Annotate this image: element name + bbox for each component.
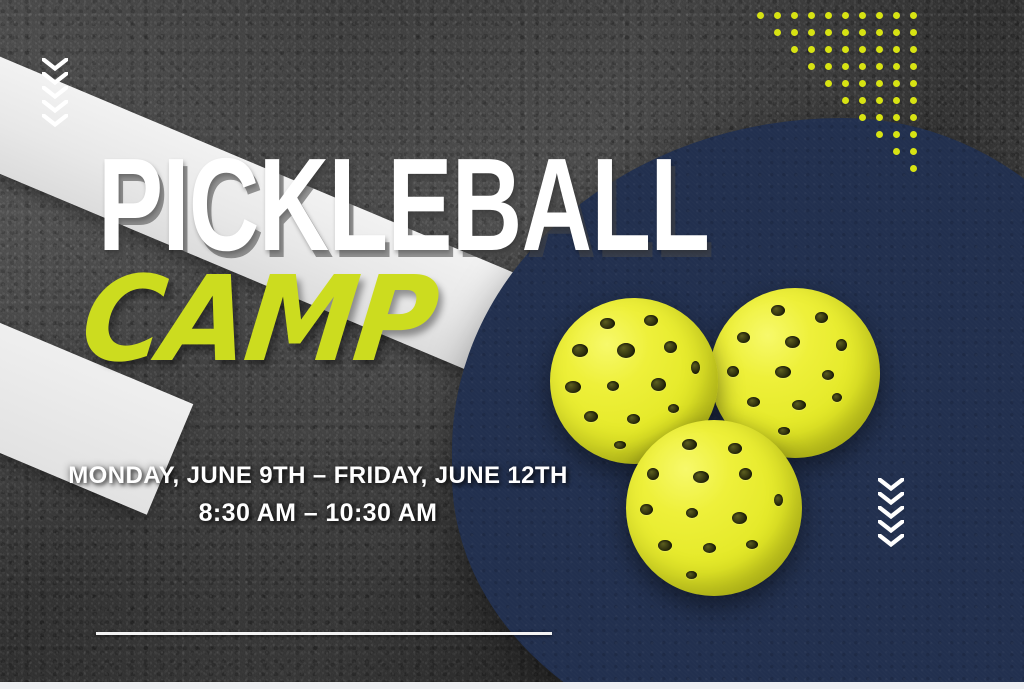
dot	[808, 12, 815, 19]
chevron-down-icon	[42, 100, 68, 113]
chevron-down-icon	[42, 86, 68, 99]
dot	[774, 12, 781, 19]
pickleball-hole	[640, 504, 653, 515]
dot	[893, 131, 900, 138]
pickleball-hole	[747, 397, 760, 407]
pickleball-cluster	[540, 280, 920, 620]
dot	[910, 80, 917, 87]
dot	[910, 46, 917, 53]
chevron-down-icon	[878, 478, 904, 491]
dot	[910, 131, 917, 138]
dot	[876, 29, 883, 36]
pickleball-hole	[607, 381, 619, 391]
dot	[825, 63, 832, 70]
dot	[842, 97, 849, 104]
chevron-down-icon	[878, 520, 904, 533]
pickleball-hole	[774, 494, 783, 506]
dot	[893, 12, 900, 19]
dot	[876, 114, 883, 121]
pickleball-hole	[746, 540, 758, 549]
dot-row	[791, 46, 927, 54]
dot	[876, 97, 883, 104]
dot	[825, 29, 832, 36]
pickleball-hole	[739, 468, 752, 480]
pickleball-hole	[728, 443, 742, 454]
chevron-down-icon	[42, 72, 68, 85]
pickleball-icon	[626, 420, 802, 596]
dot	[791, 29, 798, 36]
dot-row	[859, 114, 927, 122]
pickleball-hole	[644, 315, 658, 326]
camp-date-range: MONDAY, JUNE 9TH – FRIDAY, JUNE 12TH	[0, 458, 636, 494]
chevron-down-group-right	[878, 478, 904, 548]
dot-row	[757, 12, 927, 20]
dot	[842, 63, 849, 70]
pickleball-hole	[572, 344, 588, 357]
dot	[859, 46, 866, 53]
camp-schedule: MONDAY, JUNE 9TH – FRIDAY, JUNE 12TH 8:3…	[0, 458, 636, 532]
pickleball-hole	[668, 404, 679, 413]
dot	[859, 12, 866, 19]
chevron-down-icon	[878, 492, 904, 505]
chevron-down-icon	[42, 58, 68, 71]
dot-row	[825, 80, 927, 88]
bottom-edge-strip	[0, 682, 1024, 689]
dot	[893, 97, 900, 104]
title-camp: CAMP	[76, 260, 441, 378]
dot	[893, 46, 900, 53]
dot	[842, 80, 849, 87]
dot	[910, 97, 917, 104]
horizontal-rule	[96, 632, 552, 635]
dot	[791, 12, 798, 19]
dot	[842, 12, 849, 19]
pickleball-hole	[792, 400, 806, 410]
pickleball-camp-poster: PICKLEBALL CAMP MONDAY, JUNE 9TH – FRIDA…	[0, 0, 1024, 689]
pickleball-hole	[658, 540, 672, 551]
camp-time-range: 8:30 AM – 10:30 AM	[0, 494, 636, 532]
dot	[876, 12, 883, 19]
dot	[859, 97, 866, 104]
dot-row	[876, 131, 927, 139]
dot	[757, 12, 764, 19]
pickleball-hole	[727, 366, 739, 377]
dot	[808, 63, 815, 70]
dot	[859, 29, 866, 36]
dot-row	[774, 29, 927, 37]
pickleball-hole	[584, 411, 598, 422]
dot	[893, 63, 900, 70]
pickleball-hole	[785, 336, 800, 348]
chevron-down-icon	[878, 506, 904, 519]
pickleball-hole	[703, 543, 716, 553]
pickleball-hole	[686, 508, 698, 518]
dot	[876, 63, 883, 70]
pickleball-hole	[691, 361, 700, 374]
dot-row	[842, 97, 927, 105]
pickleball-hole	[686, 571, 697, 579]
dot	[859, 80, 866, 87]
pickleball-hole	[664, 341, 677, 353]
chevron-down-icon	[42, 114, 68, 127]
dot	[825, 80, 832, 87]
dot	[859, 114, 866, 121]
dot	[825, 46, 832, 53]
pickleball-hole	[775, 366, 791, 378]
chevron-down-icon	[878, 534, 904, 547]
page-title: PICKLEBALL CAMP	[98, 152, 924, 258]
pickleball-hole	[737, 332, 750, 343]
title-pickleball: PICKLEBALL	[98, 152, 709, 258]
pickleball-hole	[822, 370, 834, 380]
dot-row	[808, 63, 927, 71]
chevron-down-group-left	[42, 58, 68, 128]
dot	[791, 46, 798, 53]
dot	[910, 114, 917, 121]
pickleball-hole	[565, 381, 581, 393]
pickleball-hole	[832, 393, 842, 402]
dot	[808, 29, 815, 36]
dot	[774, 29, 781, 36]
pickleball-hole	[651, 378, 666, 391]
pickleball-hole	[617, 343, 635, 358]
pickleball-hole	[693, 471, 709, 483]
dot	[910, 29, 917, 36]
pickleball-hole	[614, 441, 626, 449]
pickleball-hole	[682, 439, 697, 450]
pickleball-hole	[771, 305, 785, 316]
dot	[893, 29, 900, 36]
pickleball-holes	[626, 420, 802, 596]
dot	[808, 46, 815, 53]
dot	[876, 80, 883, 87]
pickleball-hole	[836, 339, 847, 351]
dot	[825, 12, 832, 19]
pickleball-hole	[732, 512, 747, 524]
dot	[859, 63, 866, 70]
dot	[876, 131, 883, 138]
dot	[893, 114, 900, 121]
pickleball-hole	[815, 312, 828, 323]
dot	[893, 80, 900, 87]
pickleball-hole	[600, 318, 615, 329]
dot	[842, 29, 849, 36]
pickleball-hole	[647, 468, 659, 480]
dot-triangle-pattern	[757, 12, 927, 172]
dot	[876, 46, 883, 53]
dot	[842, 46, 849, 53]
dot	[910, 12, 917, 19]
dot	[910, 63, 917, 70]
